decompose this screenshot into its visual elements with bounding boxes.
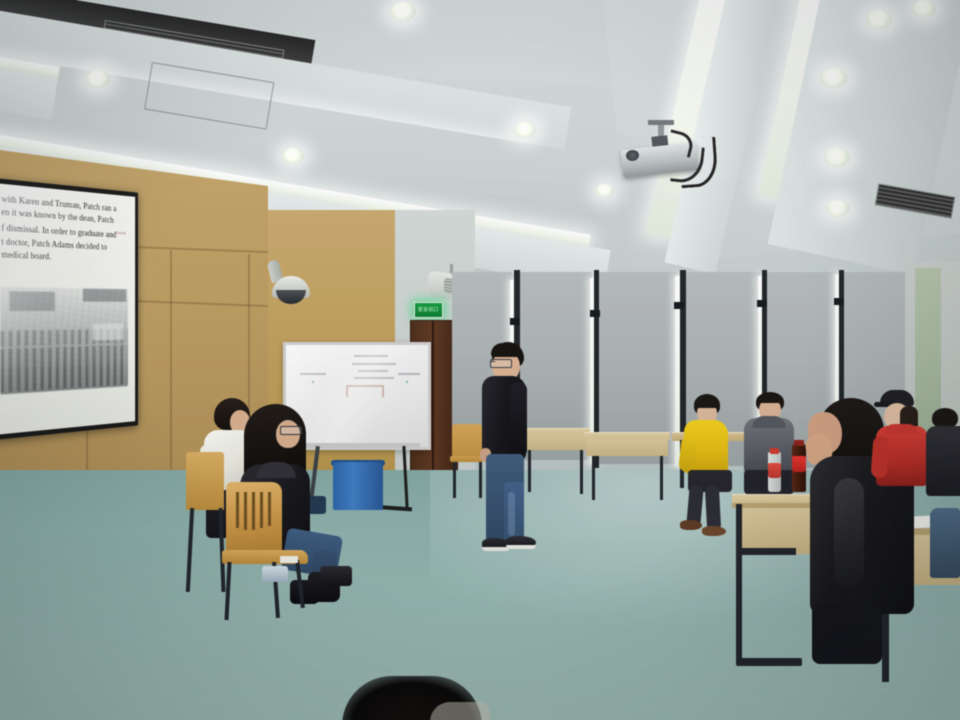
dome-security-camera: [266, 260, 312, 306]
jeans-leg-left: [486, 482, 505, 544]
desk-leg: [736, 504, 742, 664]
leg: [812, 604, 882, 664]
ceiling-downlight: [912, 0, 936, 17]
exit-sign: 安全出口: [414, 302, 443, 318]
ceiling-downlight: [596, 184, 614, 197]
jacket-sheen: [834, 478, 864, 588]
shoe: [702, 526, 726, 536]
chair-leg: [295, 560, 305, 608]
slide-text-block: with Karen and Truman, Patch ran a en it…: [0, 193, 134, 267]
desk-leg: [592, 456, 595, 500]
blind-bracket: [590, 310, 600, 317]
blind-bracket: [510, 318, 520, 325]
ceiling-downlight: [390, 2, 416, 21]
glasses-icon: [280, 426, 302, 435]
door-center-seam: [432, 320, 434, 490]
projector: [618, 120, 718, 180]
exit-sign-label: 安全出口: [418, 307, 438, 313]
projector-mount-plate: [648, 120, 674, 125]
projection-screen: with Karen and Truman, Patch ran a en it…: [0, 178, 138, 440]
ceiling-downlight: [824, 148, 850, 167]
chair-slat: [252, 492, 255, 530]
classroom-photo: 安全出口 with Ka: [0, 0, 960, 720]
chair-leg: [224, 562, 231, 620]
hair-top: [491, 343, 522, 357]
arm: [871, 435, 890, 478]
slide-image: [0, 287, 127, 394]
hair-fringe: [695, 398, 719, 408]
desk-leg: [580, 450, 583, 494]
desk-panel: [586, 439, 668, 456]
whiteboard-writing: [294, 355, 420, 405]
blind-bracket: [757, 300, 767, 307]
ceiling-downlight: [86, 70, 110, 88]
bag-on-floor: [262, 566, 288, 582]
screen-surface: with Karen and Truman, Patch ran a en it…: [0, 183, 135, 434]
presenter: [478, 342, 542, 560]
ceiling-downlight: [820, 68, 848, 88]
hood: [752, 416, 786, 428]
sneaker-sole: [482, 547, 510, 551]
student-blue-sleeve: [930, 508, 960, 578]
chair-back[interactable]: [186, 452, 224, 510]
chair-label-sticker: [280, 556, 298, 563]
shoe: [680, 520, 702, 530]
blind-bracket: [834, 298, 844, 305]
ceiling-downlight: [866, 10, 892, 29]
ceiling-downlight: [282, 148, 304, 164]
chair-front[interactable]: [222, 482, 308, 620]
foreground-shoulder: [430, 702, 490, 720]
desk-foot: [736, 658, 802, 666]
hair-fringe: [757, 394, 783, 403]
bag-on-floor: [320, 566, 352, 586]
desk-leg: [660, 456, 663, 500]
chair-slat: [244, 492, 247, 530]
chair-slat: [268, 492, 271, 526]
student-yellow-jacket: [676, 394, 740, 534]
ceiling-downlight: [514, 122, 536, 138]
slide-watermark: baidu: [116, 228, 126, 241]
glasses-bridge: [490, 361, 495, 362]
coat-arm: [510, 382, 527, 458]
chair-slat: [260, 492, 263, 528]
sneaker-sole: [506, 545, 536, 549]
coat-collar: [884, 424, 918, 434]
dark-jacket: [926, 426, 960, 496]
desk-leg-brace: [740, 548, 796, 555]
chair-leg: [453, 462, 456, 498]
camera-lens-dome: [276, 290, 306, 304]
ceiling-downlight: [826, 200, 850, 217]
chair-slat: [236, 492, 239, 528]
jeans-highlight: [508, 492, 515, 536]
water-bottle-label: [768, 463, 781, 478]
bottle-cap: [770, 448, 779, 454]
blind-bracket: [674, 302, 684, 309]
leg: [705, 486, 721, 531]
hair: [932, 408, 958, 428]
